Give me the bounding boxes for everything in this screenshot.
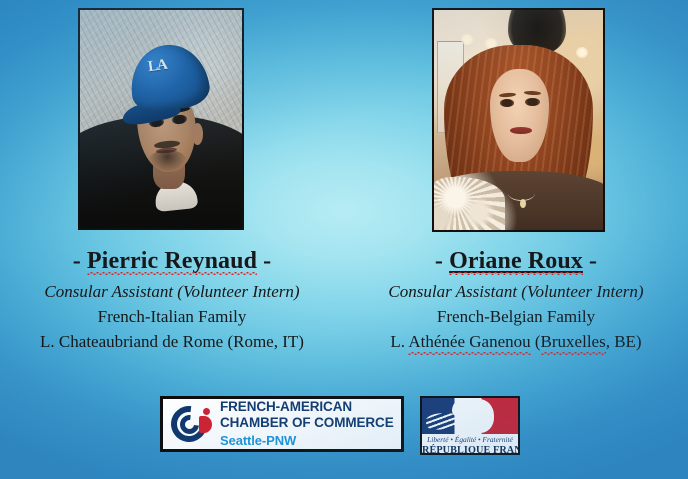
facc-chapter: Seattle-PNW	[220, 432, 394, 449]
ear	[192, 123, 203, 145]
name-text-pierric: Pierric Reynaud	[87, 248, 257, 274]
republique-francaise-logo: Liberté • Égalité • Fraternité RÉPUBLIQU…	[420, 396, 520, 455]
name-dash-left: -	[435, 248, 443, 274]
floral-top	[434, 177, 505, 230]
cap-la-logo: LA	[147, 57, 168, 76]
marianne-profile	[458, 399, 494, 433]
ceiling-light-1	[461, 34, 473, 45]
person-block-oriane-roux: - Oriane Roux - Consular Assistant (Volu…	[344, 246, 688, 354]
name-dash-left: -	[73, 248, 81, 274]
person-role-oriane: Consular Assistant (Volunteer Intern)	[344, 279, 688, 304]
name-dash-right: -	[263, 248, 271, 274]
cci-red-wedge	[199, 416, 212, 433]
person-school-oriane: L. Athénée Ganenou (Bruxelles, BE)	[344, 329, 688, 354]
person-name-oriane: - Oriane Roux -	[344, 246, 688, 276]
slide-canvas: LA	[0, 0, 688, 479]
person-block-pierric-reynaud: - Pierric Reynaud - Consular Assistant (…	[0, 246, 344, 354]
cci-mark-icon	[171, 405, 211, 443]
portrait-row: LA	[0, 0, 688, 236]
person-school-pierric: L. Chateaubriand de Rome (Rome, IT)	[0, 329, 344, 354]
name-text-oriane: Oriane Roux	[449, 248, 583, 274]
name-dash-right: -	[589, 248, 597, 274]
portrait-oriane-roux	[432, 8, 605, 232]
facc-line-1: FRENCH-AMERICAN	[220, 399, 394, 415]
person-family-pierric: French-Italian Family	[0, 304, 344, 329]
french-american-chamber-of-commerce-logo: FRENCH-AMERICAN CHAMBER OF COMMERCE Seat…	[160, 396, 404, 452]
person-name-pierric: - Pierric Reynaud -	[0, 246, 344, 276]
portrait-pierric-image: LA	[80, 10, 242, 228]
lips	[510, 127, 532, 134]
school-country: , BE)	[606, 332, 642, 351]
logo-row: FRENCH-AMERICAN CHAMBER OF COMMERCE Seat…	[0, 392, 688, 472]
face	[490, 69, 549, 161]
person-role-pierric: Consular Assistant (Volunteer Intern)	[0, 279, 344, 304]
person-family-oriane: French-Belgian Family	[344, 304, 688, 329]
facc-line-2: CHAMBER OF COMMERCE	[220, 415, 394, 431]
school-paren-open: (	[531, 332, 541, 351]
school-institution: Athénée Ganenou	[408, 332, 530, 351]
cci-red-dot	[203, 408, 210, 415]
portrait-pierric-reynaud: LA	[78, 8, 244, 230]
beard	[148, 150, 187, 174]
eye-right	[525, 98, 539, 106]
school-prefix: L.	[390, 332, 408, 351]
portrait-oriane-image	[434, 10, 603, 230]
facc-wordmark: FRENCH-AMERICAN CHAMBER OF COMMERCE Seat…	[220, 399, 394, 449]
school-city: Bruxelles	[541, 332, 606, 351]
republic-name: RÉPUBLIQUE FRANÇAISE	[422, 444, 518, 455]
